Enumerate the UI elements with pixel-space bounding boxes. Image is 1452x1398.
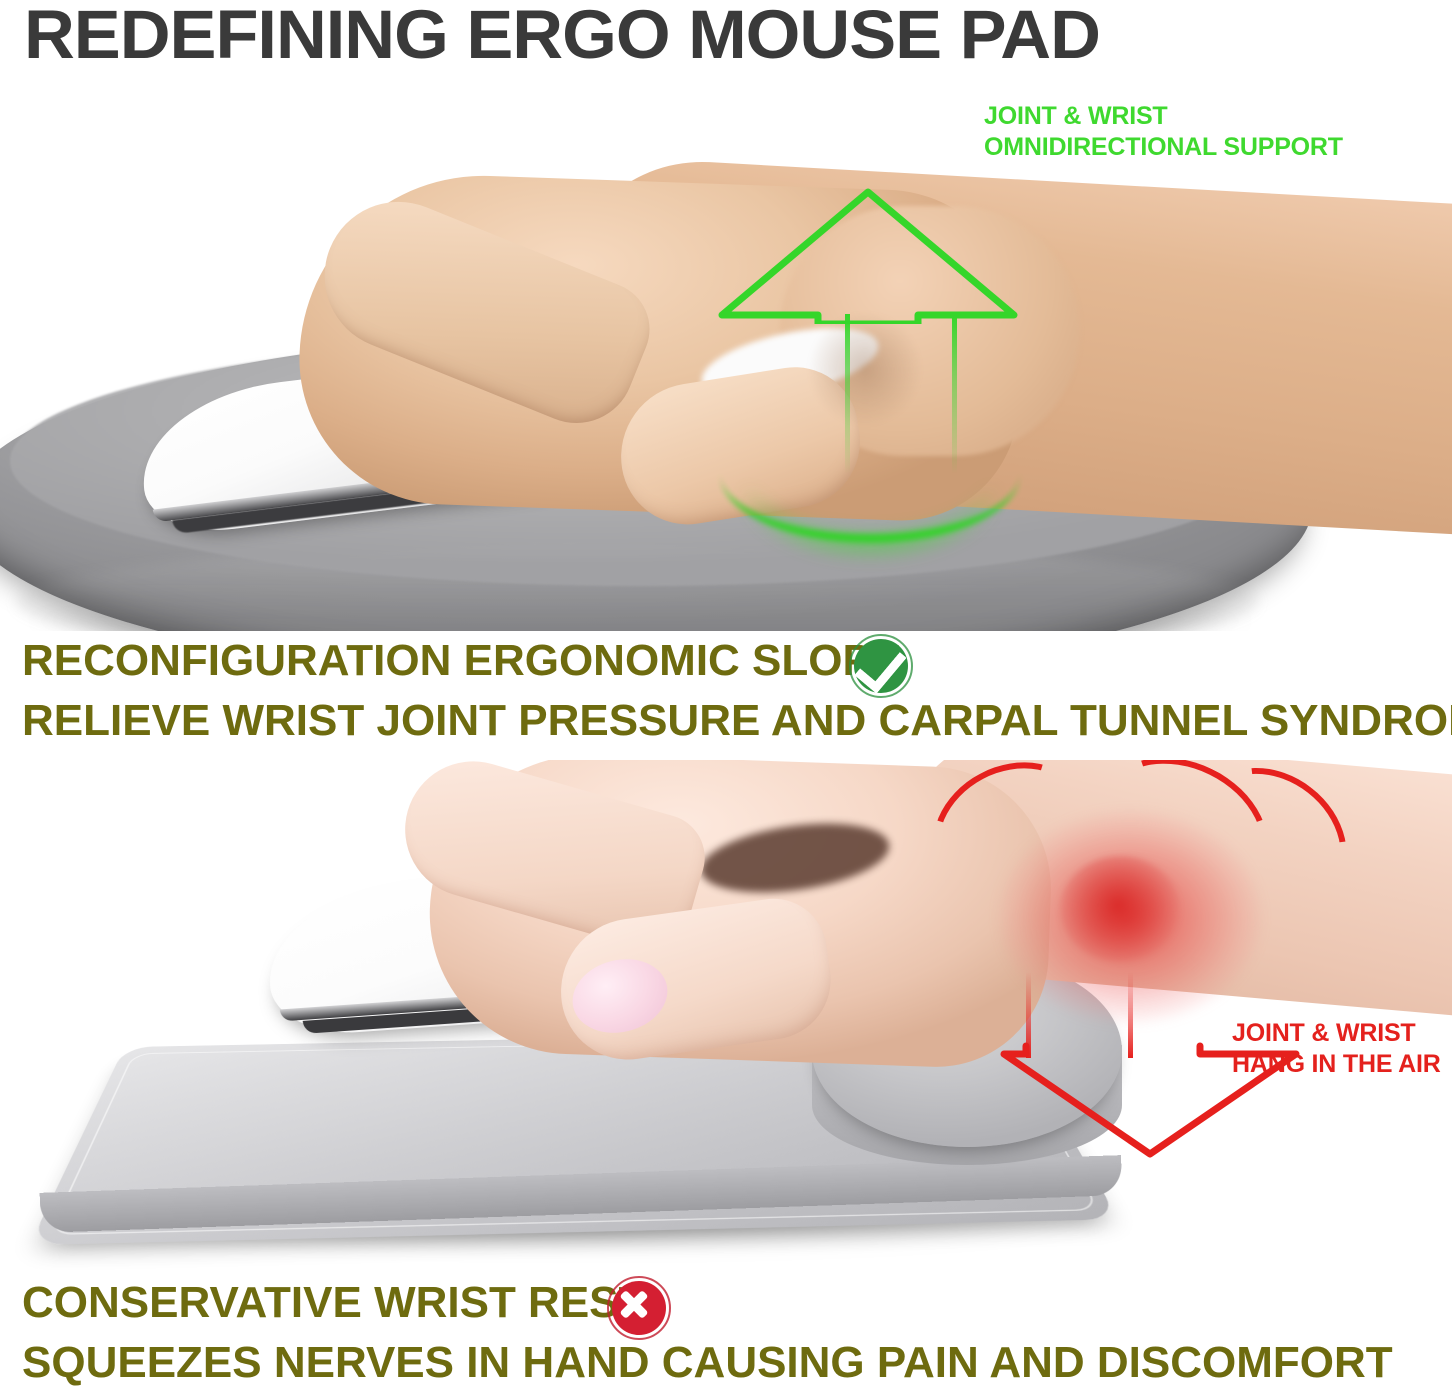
red-annotation: JOINT & WRIST HANG IN THE AIR bbox=[1232, 1018, 1452, 1080]
top-caption-line2: RELIEVE WRIST JOINT PRESSURE AND CARPAL … bbox=[22, 696, 1452, 746]
check-mark-icon bbox=[849, 634, 913, 698]
ergonomic-pad-photo bbox=[0, 86, 1452, 631]
green-arrow-stem-left bbox=[845, 314, 850, 474]
red-annotation-line1: JOINT & WRIST bbox=[1232, 1018, 1452, 1049]
green-annotation-line1: JOINT & WRIST bbox=[984, 101, 1404, 132]
top-caption-line1: RECONFIGURATION ERGONOMIC SLOPE bbox=[22, 636, 901, 686]
green-annotation: JOINT & WRIST OMNIDIRECTIONAL SUPPORT bbox=[984, 101, 1404, 163]
bottom-caption-line1: CONSERVATIVE WRIST REST bbox=[22, 1278, 645, 1328]
green-up-arrow-icon bbox=[718, 184, 1018, 324]
infographic-canvas: REDEFINING ERGO MOUSE PAD JOINT & WRIST … bbox=[0, 0, 1452, 1390]
green-support-glow bbox=[720, 404, 1020, 543]
bottom-caption-block: CONSERVATIVE WRIST REST SQUEEZES NERVES … bbox=[0, 1278, 1452, 1398]
page-title: REDEFINING ERGO MOUSE PAD bbox=[24, 0, 1452, 74]
cross-mark-icon bbox=[607, 1276, 671, 1340]
bottom-caption-line2: SQUEEZES NERVES IN HAND CAUSING PAIN AND… bbox=[22, 1338, 1393, 1388]
flat-pad-photo bbox=[0, 760, 1452, 1270]
green-annotation-line2: OMNIDIRECTIONAL SUPPORT bbox=[984, 132, 1404, 163]
top-caption-block: RECONFIGURATION ERGONOMIC SLOPE RELIEVE … bbox=[0, 636, 1452, 756]
green-arrow-stem-right bbox=[952, 314, 957, 474]
red-annotation-line2: HANG IN THE AIR bbox=[1232, 1049, 1452, 1080]
